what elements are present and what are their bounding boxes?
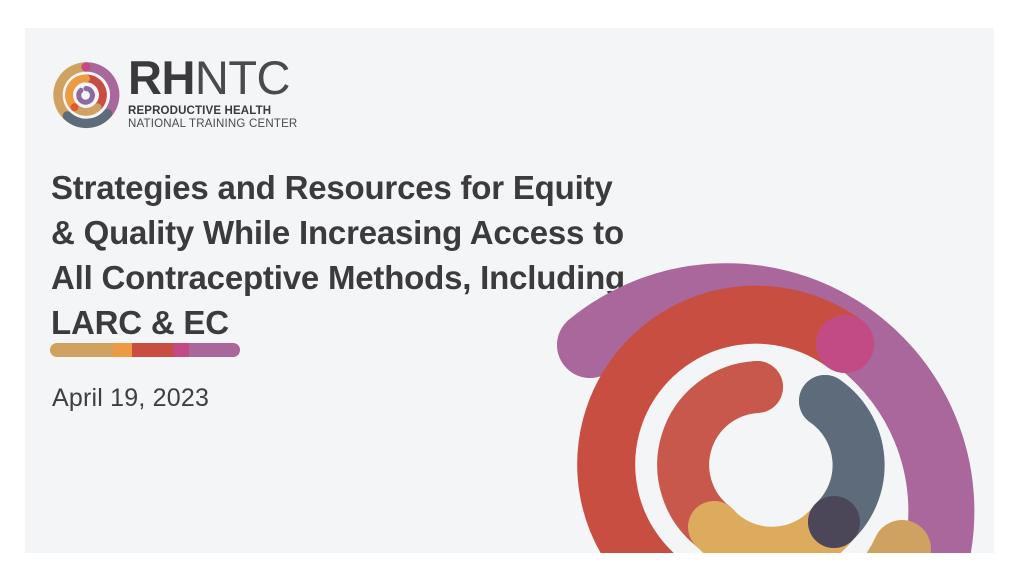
logo-wordmark-rh: RH [128, 51, 195, 104]
slide-title: Strategies and Resources for Equity & Qu… [51, 165, 711, 345]
accent-rule-segment-2 [132, 343, 174, 357]
logo-subtitle-line2: NATIONAL TRAINING CENTER [128, 118, 348, 130]
slide-canvas: RHNTC REPRODUCTIVE HEALTH NATIONAL TRAIN… [25, 28, 994, 553]
logo-subtitle-line1: REPRODUCTIVE HEALTH [128, 105, 348, 117]
logo-wordmark-rhntc: RHNTC [128, 53, 348, 103]
spiral-swirl-icon [50, 59, 122, 131]
logo-wordmark: RHNTC REPRODUCTIVE HEALTH NATIONAL TRAIN… [128, 53, 348, 130]
rhntc-logo: RHNTC REPRODUCTIVE HEALTH NATIONAL TRAIN… [50, 53, 350, 138]
accent-rule-segment-3 [173, 343, 188, 357]
accent-rule-segment-1 [113, 343, 132, 357]
logo-wordmark-ntc: NTC [195, 51, 290, 104]
accent-rule-segment-0 [50, 343, 113, 357]
slide-date: April 19, 2023 [52, 384, 209, 413]
accent-rule [50, 343, 240, 357]
accent-rule-segment-4 [189, 343, 240, 357]
